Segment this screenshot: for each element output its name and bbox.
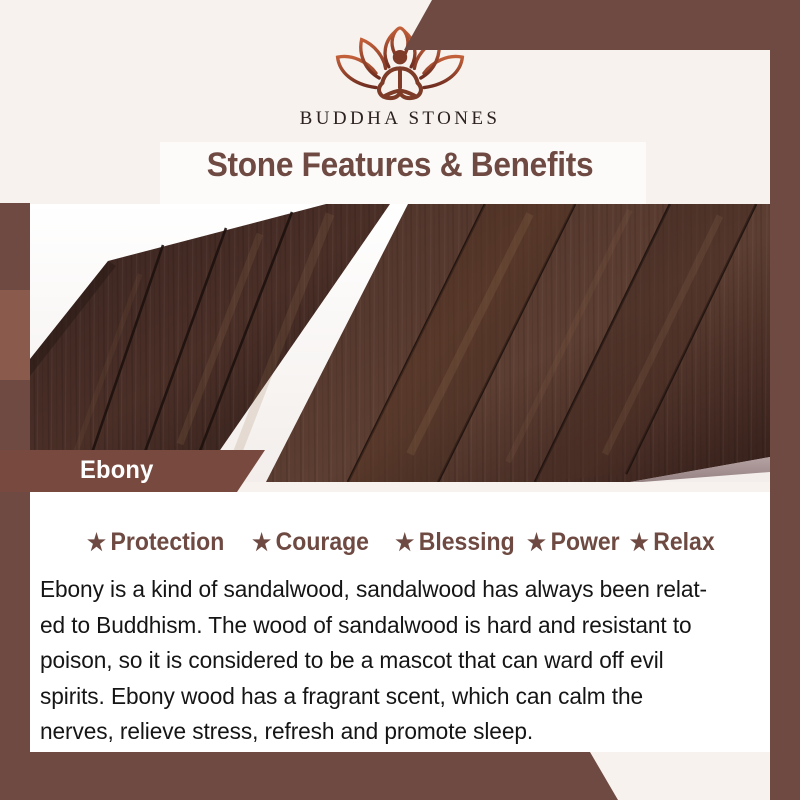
frame-right-accent bbox=[770, 0, 800, 800]
star-icon: ★ bbox=[87, 529, 106, 555]
benefits-list: ★Protection★Courage★Blessing★Power★Relax bbox=[30, 528, 770, 557]
frame-bottom-accent bbox=[0, 752, 800, 800]
description-text: Ebony is a kind of sandalwood, sandalwoo… bbox=[40, 572, 737, 750]
description-line: Ebony is a kind of sandalwood, sandalwoo… bbox=[40, 572, 737, 608]
benefit-label: Blessing bbox=[418, 528, 514, 556]
star-icon: ★ bbox=[527, 529, 546, 555]
product-photo bbox=[30, 204, 770, 482]
description-line: poison, so it is considered to be a masc… bbox=[40, 643, 737, 679]
star-icon: ★ bbox=[395, 529, 414, 555]
frame-left-notch bbox=[0, 290, 30, 380]
star-icon: ★ bbox=[252, 529, 271, 555]
brand-name: BUDDHA STONES bbox=[300, 108, 501, 130]
benefit-label: Power bbox=[550, 528, 619, 556]
benefit-item-relax: ★Relax bbox=[630, 528, 715, 557]
description-line: spirits. Ebony wood has a fragrant scent… bbox=[40, 679, 737, 715]
benefit-item-power: ★Power bbox=[527, 528, 620, 557]
product-label: Ebony bbox=[80, 456, 154, 485]
description-line: nerves, relieve stress, refresh and prom… bbox=[40, 714, 737, 750]
benefit-item-courage: ★Courage bbox=[252, 528, 369, 557]
benefit-label: Courage bbox=[275, 528, 368, 556]
description-line: ed to Buddhism. The wood of sandalwood i… bbox=[40, 608, 737, 644]
benefit-item-protection: ★Protection bbox=[87, 528, 224, 557]
star-icon: ★ bbox=[630, 529, 649, 555]
benefit-label: Protection bbox=[111, 528, 225, 556]
benefit-item-blessing: ★Blessing bbox=[395, 528, 514, 557]
poster-canvas: BUDDHA STONES Stone Features & Benefits bbox=[0, 0, 800, 800]
benefit-label: Relax bbox=[653, 528, 714, 556]
page-title: Stone Features & Benefits bbox=[28, 146, 772, 185]
